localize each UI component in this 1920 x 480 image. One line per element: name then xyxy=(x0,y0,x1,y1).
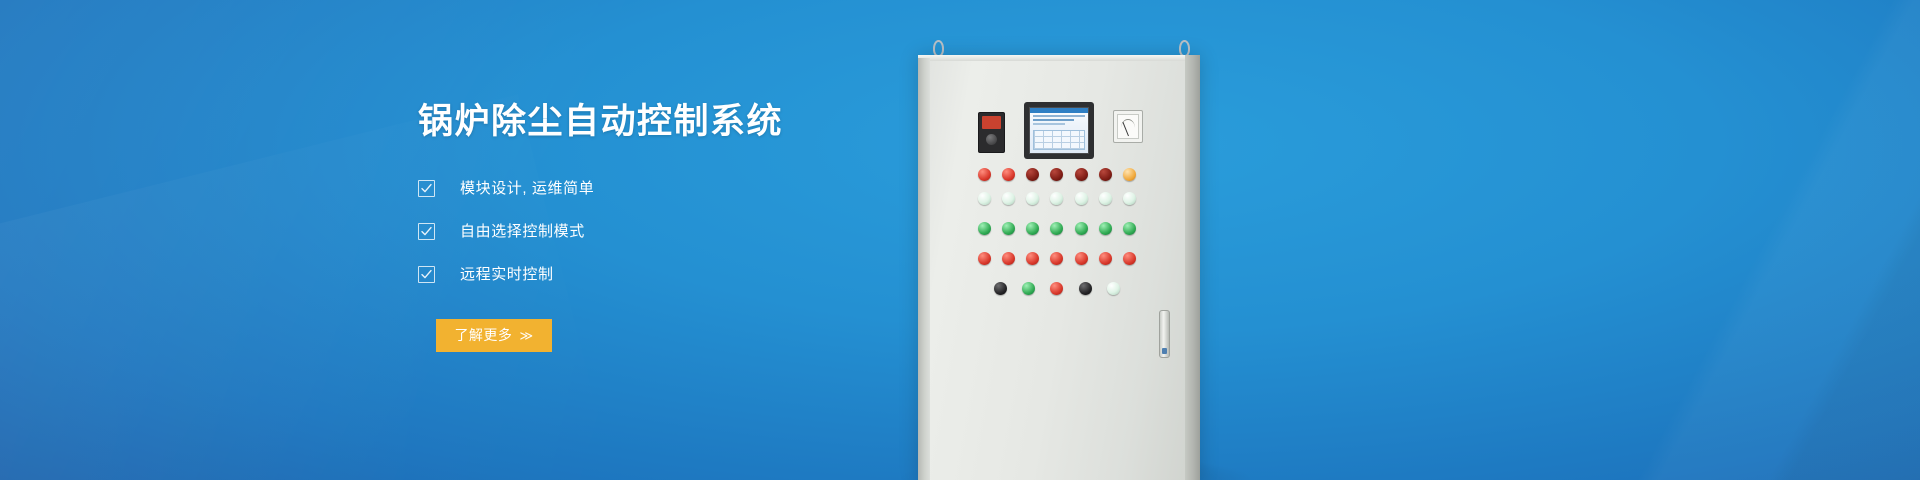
digital-meter-module xyxy=(978,112,1005,153)
indicator-lamp-green xyxy=(1026,222,1039,235)
feature-list: 模块设计, 运维简单 自由选择控制模式 远程实时控制 xyxy=(418,172,938,291)
indicator-lamp-black xyxy=(1079,282,1092,295)
indicator-lamp-green xyxy=(1075,222,1088,235)
indicator-lamp-green xyxy=(1099,222,1112,235)
page-title: 锅炉除尘自动控制系统 xyxy=(418,100,938,144)
indicator-lamp-green xyxy=(1002,222,1015,235)
door-lock-icon xyxy=(1162,348,1167,354)
indicator-lamp-green xyxy=(1022,282,1035,295)
control-cabinet-image xyxy=(900,0,1240,480)
indicator-lamp-red xyxy=(1075,252,1088,265)
hmi-data-grid xyxy=(1033,130,1085,150)
indicator-lamp-darkred xyxy=(1050,168,1063,181)
indicator-lamp-green xyxy=(978,222,991,235)
indicator-lamp-paleg xyxy=(1107,282,1120,295)
checkbox-check-icon xyxy=(418,180,435,197)
digital-meter-knob xyxy=(986,134,997,145)
indicator-lamp-red xyxy=(1050,282,1063,295)
switch-row-5 xyxy=(986,282,1128,295)
digital-meter-display xyxy=(982,116,1001,129)
cabinet-top-edge xyxy=(918,55,1200,61)
indicator-lamp-paleg xyxy=(1099,192,1112,205)
indicator-lamp-red xyxy=(978,252,991,265)
hmi-text-line xyxy=(1033,123,1065,125)
indicator-lamp-paleg xyxy=(1050,192,1063,205)
indicator-lamp-darkred xyxy=(1026,168,1039,181)
gauge-face xyxy=(1117,114,1139,139)
hero-banner: 锅炉除尘自动控制系统 模块设计, 运维简单 自由选择控制模式 xyxy=(0,0,1920,480)
lamp-row-3 xyxy=(972,222,1142,235)
indicator-lamp-paleg xyxy=(1123,192,1136,205)
lamp-row-1 xyxy=(972,168,1142,181)
indicator-lamp-green xyxy=(1123,222,1136,235)
indicator-lamp-red xyxy=(1002,252,1015,265)
indicator-lamp-paleg xyxy=(1002,192,1015,205)
indicator-lamp-red xyxy=(1099,252,1112,265)
indicator-lamp-red xyxy=(1026,252,1039,265)
feature-label: 自由选择控制模式 xyxy=(460,224,585,239)
list-item: 模块设计, 运维简单 xyxy=(418,172,938,205)
feature-label: 模块设计, 运维简单 xyxy=(460,181,594,196)
indicator-lamp-red xyxy=(1123,252,1136,265)
list-item: 自由选择控制模式 xyxy=(418,215,938,248)
indicator-lamp-darkred xyxy=(1075,168,1088,181)
learn-more-label: 了解更多 xyxy=(454,325,512,345)
hmi-screen-surface xyxy=(1029,107,1089,154)
indicator-lamp-red xyxy=(1050,252,1063,265)
list-item: 远程实时控制 xyxy=(418,258,938,291)
checkbox-check-icon xyxy=(418,223,435,240)
banner-copy: 锅炉除尘自动控制系统 模块设计, 运维简单 自由选择控制模式 xyxy=(418,100,938,352)
indicator-lamp-paleg xyxy=(1075,192,1088,205)
indicator-lamp-darkred xyxy=(1099,168,1112,181)
hmi-text-line xyxy=(1033,115,1085,117)
checkbox-check-icon xyxy=(418,266,435,283)
hmi-touchscreen xyxy=(1024,102,1094,159)
learn-more-button[interactable]: 了解更多 ≫ xyxy=(436,319,552,352)
cabinet-right-edge xyxy=(1185,55,1200,480)
indicator-lamp-green xyxy=(1050,222,1063,235)
door-handle[interactable] xyxy=(1159,310,1170,358)
indicator-lamp-amber xyxy=(1123,168,1136,181)
lamp-row-2 xyxy=(972,192,1142,205)
hmi-title-bar xyxy=(1030,108,1088,113)
feature-label: 远程实时控制 xyxy=(460,267,554,282)
indicator-lamp-paleg xyxy=(1026,192,1039,205)
hmi-text-line xyxy=(1033,119,1074,121)
indicator-lamp-black xyxy=(994,282,1007,295)
chevron-right-icon: ≫ xyxy=(519,329,533,342)
indicator-lamp-paleg xyxy=(978,192,991,205)
indicator-lamp-red xyxy=(978,168,991,181)
lamp-row-4 xyxy=(972,252,1142,265)
analog-gauge xyxy=(1113,110,1143,143)
indicator-lamp-red xyxy=(1002,168,1015,181)
